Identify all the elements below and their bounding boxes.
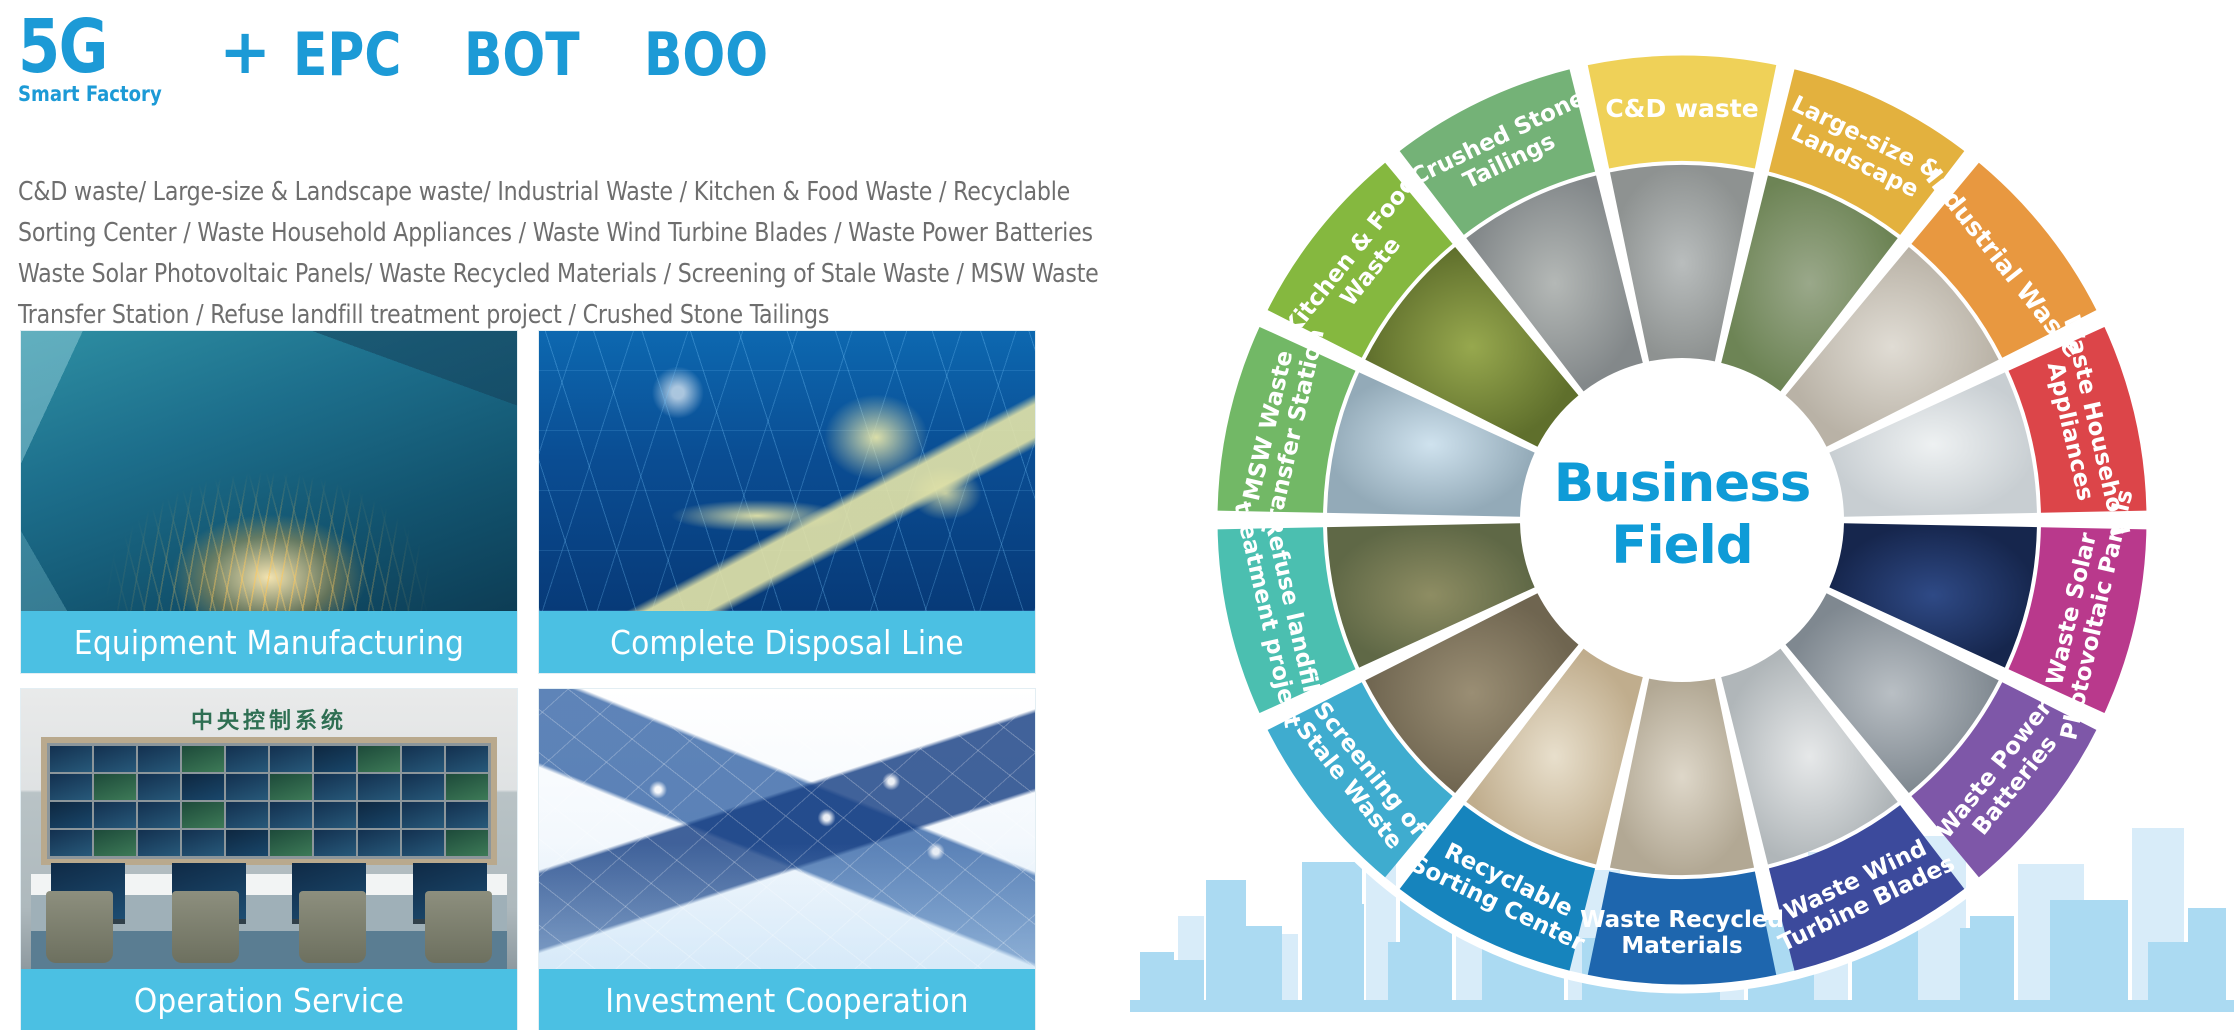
left-column: 5G Smart Factory + EPC BOT BOO C&D waste… (0, 0, 1160, 1030)
acronyms-group: EPC BOT BOO (293, 25, 791, 85)
card-operation-service[interactable]: 中央控制系统 Operation Service (20, 688, 518, 1030)
card-grid: Equipment Manufacturing Complete Disposa… (20, 330, 1050, 1030)
card-row-bottom: 中央控制系统 Operation Service (20, 688, 1050, 1030)
wheel-segment-label: C&D waste (1605, 94, 1758, 123)
plus-sign: + (219, 21, 271, 83)
card-caption: Complete Disposal Line (539, 611, 1035, 673)
intro-paragraph: C&D waste/ Large-size & Landscape waste/… (18, 172, 1128, 336)
poster-root: 5G Smart Factory + EPC BOT BOO C&D waste… (0, 0, 2234, 1030)
operator-chairs (46, 891, 492, 964)
smart-factory-text: Smart Factory (18, 84, 162, 105)
card-caption: Investment Cooperation (539, 969, 1035, 1030)
wheel-svg: C&D wasteLarge-size &LandscapeIndustrial… (1182, 40, 2182, 1000)
card-caption: Operation Service (21, 969, 517, 1030)
control-room-image: 中央控制系统 (21, 689, 517, 969)
headline-block: 5G Smart Factory + EPC BOT BOO (18, 12, 792, 105)
acronym-bot: BOT (464, 25, 580, 85)
card-caption: Equipment Manufacturing (21, 611, 517, 673)
card-investment-cooperation[interactable]: Investment Cooperation (538, 688, 1036, 1030)
fiveg-text: 5G (18, 12, 107, 82)
video-wall (41, 737, 497, 866)
business-field-wheel-area: C&D wasteLarge-size &LandscapeIndustrial… (1130, 0, 2234, 1030)
acronym-epc: EPC (293, 25, 401, 85)
skyline-base (1130, 1000, 2234, 1012)
robotic-welding-image (21, 331, 517, 611)
handshake-image (539, 689, 1035, 969)
wheel-hub (1522, 360, 1842, 680)
fiveg-badge: 5G Smart Factory (18, 12, 185, 105)
card-complete-disposal-line[interactable]: Complete Disposal Line (538, 330, 1036, 674)
disposal-line-image (539, 331, 1035, 611)
acronym-boo: BOO (644, 25, 768, 85)
control-room-overlay-text: 中央控制系统 (21, 703, 517, 735)
card-row-top: Equipment Manufacturing Complete Disposa… (20, 330, 1050, 674)
card-equipment-manufacturing[interactable]: Equipment Manufacturing (20, 330, 518, 674)
